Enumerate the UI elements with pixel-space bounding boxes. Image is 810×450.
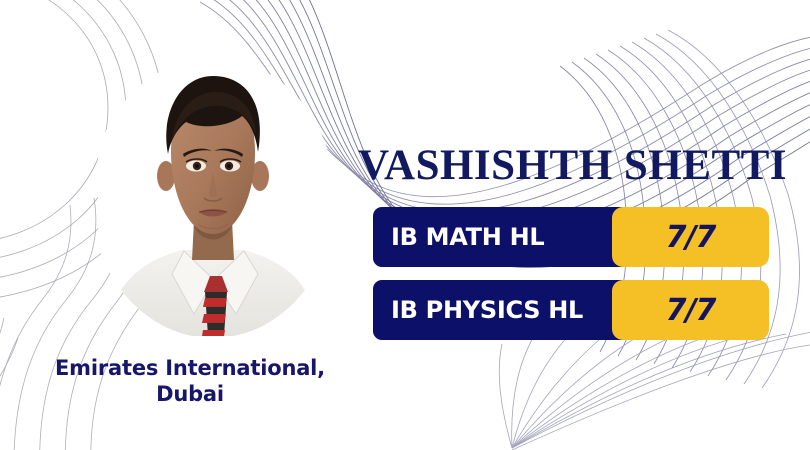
school-name-line1: Emirates International, [55,356,325,380]
subject-label-physics: IB PHYSICS HL [391,296,583,324]
score-value-physics: 7/7 [666,293,716,328]
score-pill-physics: 7/7 [612,280,769,340]
subject-pill-math: IB MATH HL [373,207,631,267]
score-row-math: IB MATH HL 7/7 [373,207,769,267]
achievement-poster: VASHISHTH SHETTI IB MATH HL 7/7 IB PHYSI… [0,0,810,450]
scores-list: IB MATH HL 7/7 IB PHYSICS HL 7/7 [373,207,769,353]
subject-pill-physics: IB PHYSICS HL [373,280,631,340]
subject-label-math: IB MATH HL [391,223,544,251]
school-name-line2: Dubai [20,381,360,407]
page-title: VASHISHTH SHETTI [358,141,787,190]
score-pill-math: 7/7 [612,207,769,267]
school-name: Emirates International, Dubai [20,355,360,408]
score-row-physics: IB PHYSICS HL 7/7 [373,280,769,340]
student-photo [98,48,328,336]
score-value-math: 7/7 [666,220,716,255]
